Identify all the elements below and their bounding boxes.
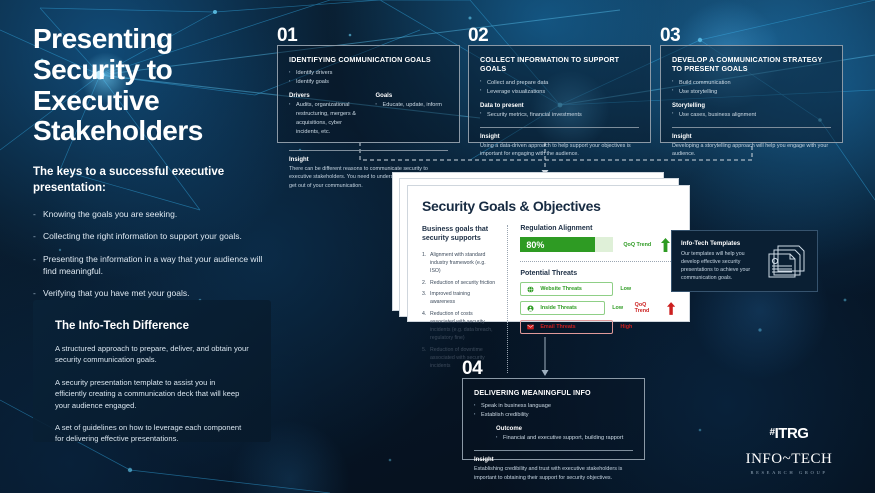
list-item: Alignment with standard industry framewo… [422, 251, 495, 275]
threat-row-email: Email Threats High [520, 320, 675, 334]
keys-block: The keys to a successful executive prese… [33, 165, 273, 310]
card-title: COLLECT INFORMATION TO SUPPORT GOALS [480, 55, 639, 74]
step-number: 01 [277, 25, 297, 47]
divider [480, 127, 639, 128]
list-item: Collecting the right information to supp… [33, 230, 273, 242]
list-item: Collect and prepare data [480, 79, 639, 88]
threat-level: Low [612, 305, 627, 311]
divider [672, 127, 831, 128]
step-number: 02 [468, 25, 488, 47]
list-item: Use storytelling [672, 88, 831, 97]
insight-text: Developing a storytelling approach will … [672, 142, 831, 159]
goals-label: Goals [376, 93, 449, 99]
step-number: 04 [462, 358, 482, 380]
insight-label: Insight [480, 134, 639, 140]
insight-label: Insight [672, 134, 831, 140]
info-tech-logo: INFO~TECH [729, 451, 849, 468]
threat-label: Email Threats [540, 324, 575, 330]
regulation-alignment-row: 80% QoQ Trend [520, 237, 675, 252]
title-line-4: Stakeholders [33, 115, 203, 146]
card-bullets: Build communication Use storytelling [672, 79, 831, 97]
templates-heading: Info-Tech Templates [681, 240, 760, 247]
card-bullets: Speak in business language Establish cre… [474, 402, 633, 420]
list-item: Reduction of costs associated with secur… [422, 310, 495, 342]
card-title: DEVELOP A COMMUNICATION STRATEGY TO PRES… [672, 55, 831, 74]
divider [289, 150, 448, 151]
metrics-column: Regulation Alignment 80% QoQ Trend Poten… [520, 225, 675, 373]
card-bullets: Identify drivers Identify goals [289, 69, 448, 87]
list-item: Reduction of security friction [422, 279, 495, 287]
security-goals-panel: Security Goals & Objectives Business goa… [407, 185, 690, 322]
title-line-1: Presenting [33, 23, 173, 54]
person-icon [527, 305, 534, 312]
threat-row-inside: Inside Threats Low QoQ Trend [520, 301, 675, 315]
title-line-2: Security to [33, 54, 172, 85]
documents-stack-icon [766, 243, 808, 279]
threat-label: Inside Threats [540, 305, 577, 311]
info-tech-logo-subtitle: RESEARCH GROUP [729, 470, 849, 475]
info-tech-templates-callout: Info-Tech Templates Our templates will h… [671, 230, 818, 292]
list-item: Identify drivers [289, 69, 448, 78]
itrg-text: ITRG [775, 425, 809, 442]
insight-label: Insight [474, 457, 633, 463]
list-item: Establish credibility [474, 411, 633, 420]
itrg-logo: #ITRG [729, 425, 849, 442]
step-number: 03 [660, 25, 680, 47]
title-line-3: Executive [33, 85, 159, 116]
regulation-progress-bar: 80% [520, 237, 613, 252]
business-goals-list: Alignment with standard industry framewo… [422, 251, 495, 370]
list-item: Educate, update, inform [376, 101, 449, 110]
regulation-value: 80% [520, 240, 544, 250]
list-item: Use cases, business alignment [672, 111, 831, 120]
horizontal-divider [520, 261, 675, 262]
drivers-label: Drivers [289, 93, 362, 99]
list-item: Leverage visualizations [480, 88, 639, 97]
list-item: Security metrics, financial investments [480, 111, 639, 120]
difference-heading: The Info-Tech Difference [55, 320, 249, 332]
list-item: Financial and executive support, buildin… [496, 434, 633, 443]
arrow-up-red-icon [667, 302, 675, 315]
threat-chip: Inside Threats [520, 301, 605, 315]
insight-text: Establishing credibility and trust with … [474, 465, 633, 482]
difference-paragraph: A security presentation template to assi… [55, 377, 249, 411]
threat-row-website: Website Threats Low [520, 282, 675, 296]
list-item: Identify goals [289, 78, 448, 87]
insight-label: Insight [289, 157, 448, 163]
list-item: Verifying that you have met your goals. [33, 287, 273, 299]
card-title: DELIVERING MEANINGFUL INFO [474, 388, 633, 397]
globe-icon [527, 286, 534, 293]
insight-text: Using a data-driven approach to help sup… [480, 142, 639, 159]
list-item: Knowing the goals you are seeking. [33, 208, 273, 220]
templates-text: Our templates will help you develop effe… [681, 250, 760, 283]
envelope-icon [527, 324, 534, 330]
list-item: Improved training awareness [422, 290, 495, 306]
panel-title: Security Goals & Objectives [422, 198, 675, 214]
business-goals-heading: Business goals that security supports [422, 225, 495, 244]
list-item: Audits, organizational restructuring, me… [289, 101, 362, 137]
list-item: Speak in business language [474, 402, 633, 411]
business-goals-column: Business goals that security supports Al… [422, 225, 495, 373]
threat-chip: Website Threats [520, 282, 613, 296]
list-item: Presenting the information in a way that… [33, 253, 273, 278]
threat-chip: Email Threats [520, 320, 613, 334]
keys-heading: The keys to a successful executive prese… [33, 165, 273, 196]
storytelling-label: Storytelling [672, 103, 831, 109]
threat-level: Low [620, 286, 637, 292]
threat-trend-label: QoQ Trend [635, 302, 660, 314]
potential-threats-heading: Potential Threats [520, 270, 675, 277]
difference-paragraph: A set of guidelines on how to leverage e… [55, 422, 249, 445]
step-card-01: 01 IDENTIFYING COMMUNICATION GOALS Ident… [277, 45, 460, 143]
vertical-divider [507, 225, 508, 373]
difference-paragraph: A structured approach to prepare, delive… [55, 343, 249, 366]
threat-label: Website Threats [540, 286, 582, 292]
step-card-02: 02 COLLECT INFORMATION TO SUPPORT GOALS … [468, 45, 651, 143]
hero-title-block: Presenting Security to Executive Stakeho… [33, 24, 283, 147]
arrow-up-green-icon [661, 238, 670, 252]
divider [474, 450, 633, 451]
outcome-label: Outcome [496, 426, 633, 432]
data-to-present-label: Data to present [480, 103, 639, 109]
card-title: IDENTIFYING COMMUNICATION GOALS [289, 55, 448, 64]
card-bullets: Collect and prepare data Leverage visual… [480, 79, 639, 97]
list-item: Build communication [672, 79, 831, 88]
step-card-03: 03 DEVELOP A COMMUNICATION STRATEGY TO P… [660, 45, 843, 143]
regulation-alignment-heading: Regulation Alignment [520, 225, 675, 232]
info-tech-difference-panel: The Info-Tech Difference A structured ap… [33, 300, 271, 442]
logo-block: #ITRG INFO~TECH RESEARCH GROUP [729, 425, 849, 475]
step-card-04: 04 DELIVERING MEANINGFUL INFO Speak in b… [462, 378, 645, 460]
qoq-trend-label: QoQ Trend [623, 242, 651, 248]
keys-list: Knowing the goals you are seeking. Colle… [33, 208, 273, 300]
security-goals-panel-stack: Security Goals & Objectives Business goa… [392, 172, 692, 324]
list-item: Reduction of downtime associated with se… [422, 346, 495, 370]
threat-level: High [620, 324, 637, 330]
page-title: Presenting Security to Executive Stakeho… [33, 24, 283, 147]
